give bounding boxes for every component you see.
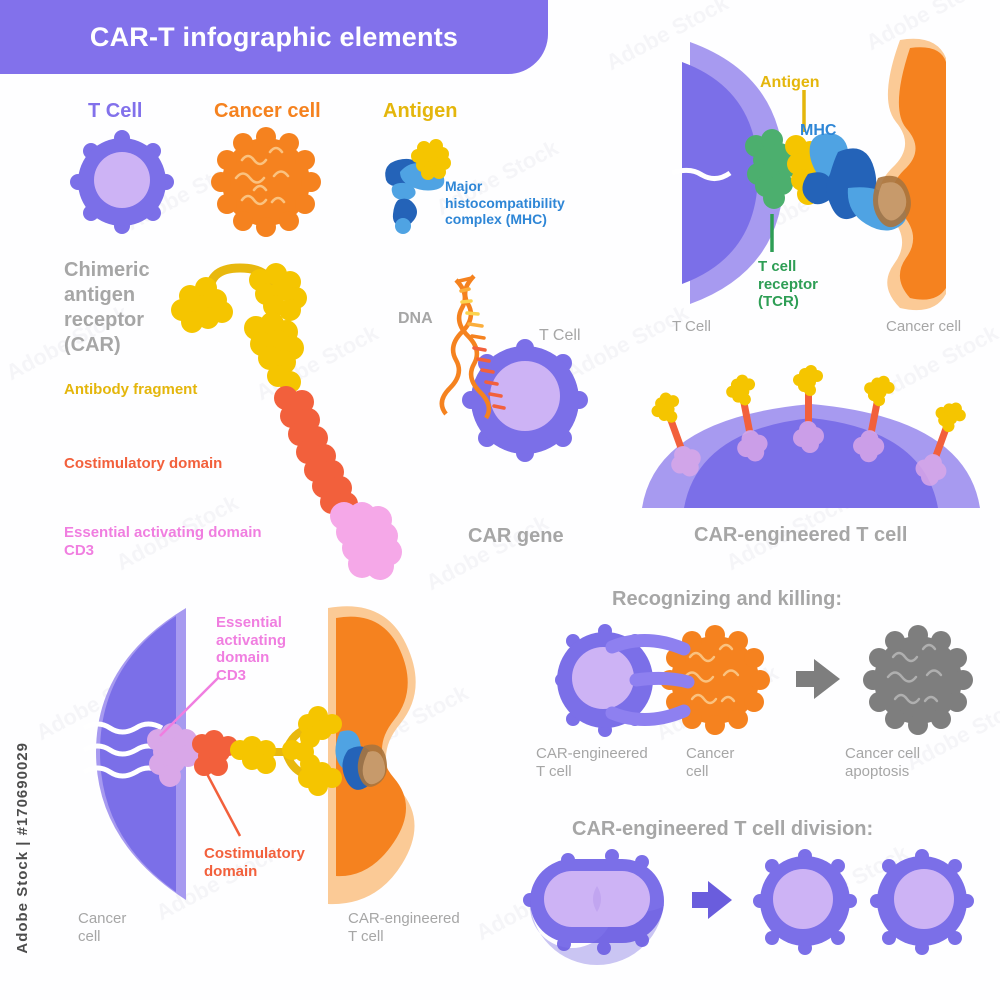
recognizing-title: Recognizing and killing:	[612, 588, 842, 612]
synapse-top-right-caption: Cancer cell	[886, 318, 961, 336]
t-cell-icon	[68, 128, 176, 236]
legend-label-antigen: Antigen	[383, 100, 457, 124]
dna-label: DNA	[398, 310, 433, 329]
synapse-top-left-caption: T Cell	[672, 318, 711, 336]
synapse-top-mhc-label: MHC	[800, 122, 836, 141]
adobe-stock-watermark: Adobe Stock | #170690029	[14, 742, 65, 954]
legend-label-t-cell: T Cell	[88, 100, 142, 124]
recognizing-diagram	[540, 625, 980, 745]
page-title: CAR-T infographic elements	[90, 22, 458, 53]
recognizing-left-caption: CAR-engineered T cell	[536, 745, 648, 780]
synapse-top-tcr-label: T cell receptor (TCR)	[758, 258, 818, 311]
synapse-bottom-right-caption: CAR-engineered T cell	[348, 910, 460, 945]
division-diagram	[520, 848, 980, 958]
car-structure-title: Chimeric antigen receptor (CAR)	[64, 258, 150, 358]
watermark-text: Adobe Stock | #170690029	[14, 742, 31, 954]
recognizing-right-caption: Cancer cell apoptosis	[845, 745, 920, 780]
synapse-bottom-cd3-label: Essential activating domain CD3	[216, 614, 286, 685]
cancer-cell-icon	[212, 130, 320, 234]
car-gene-caption: CAR gene	[468, 525, 564, 549]
synapse-top-diagram	[672, 28, 984, 318]
car-engineered-tcell-caption: CAR-engineered T cell	[694, 524, 907, 548]
mhc-note-label: Major histocompatibility complex (MHC)	[445, 178, 565, 228]
legend-label-cancer-cell: Cancer cell	[214, 100, 321, 124]
car-molecule-diagram	[160, 258, 410, 578]
synapse-bottom-left-caption: Cancer cell	[78, 910, 126, 945]
car-gene-diagram	[432, 278, 617, 518]
synapse-bottom-costim-label: Costimulatory domain	[204, 845, 305, 880]
car-engineered-tcell-diagram	[636, 368, 986, 518]
header-banner: CAR-T infographic elements	[0, 0, 548, 74]
synapse-top-antigen-label: Antigen	[760, 74, 820, 93]
division-title: CAR-engineered T cell division:	[572, 818, 873, 842]
infographic-canvas: Adobe Stock Adobe Stock Adobe Stock Adob…	[0, 0, 1000, 1000]
recognizing-middle-caption: Cancer cell	[686, 745, 734, 780]
